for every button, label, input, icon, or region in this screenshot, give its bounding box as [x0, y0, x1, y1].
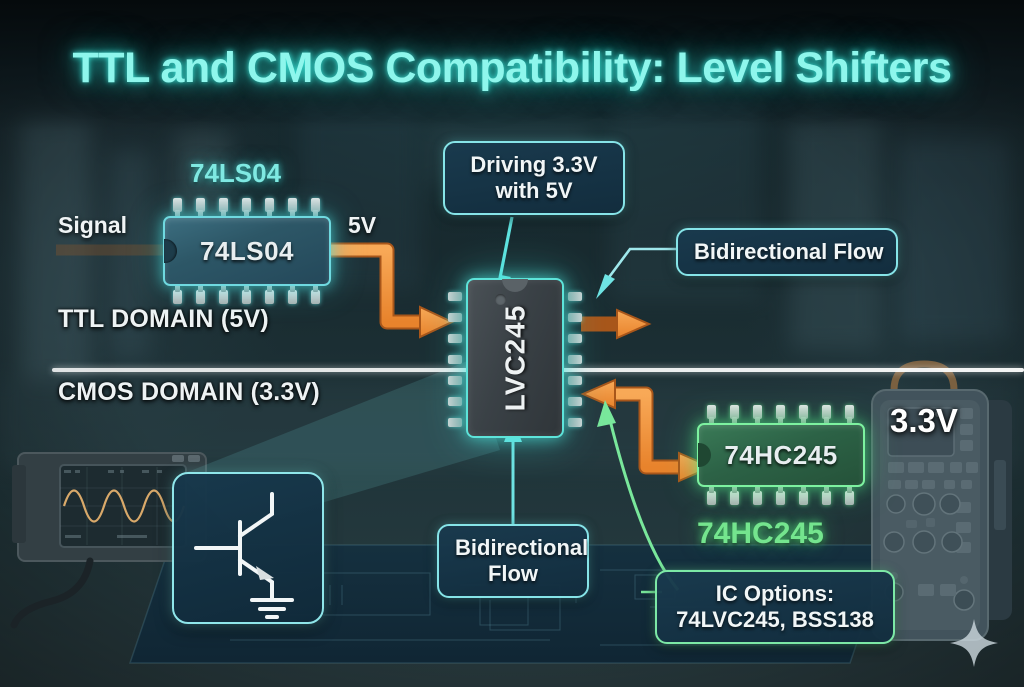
chip-lvc245[interactable]: LVC245: [448, 278, 582, 438]
ttl-voltage-label: 5V: [348, 212, 376, 239]
input-chip-caption: 74LS04: [190, 158, 281, 189]
chip-74hc245[interactable]: 74HC245: [697, 405, 865, 505]
npn-transistor-symbol: [174, 474, 322, 622]
transistor-symbol-panel[interactable]: [172, 472, 324, 624]
callout-bidir-bottom-line2: Flow: [455, 561, 571, 587]
callout-ic-options[interactable]: IC Options: 74LVC245, BSS138: [655, 570, 895, 644]
chip-74hc245-label: 74HC245: [724, 440, 837, 471]
callout-bidir-bottom-line1: Bidirectional: [455, 535, 571, 561]
cmos-voltage-label: 3.3V: [890, 402, 958, 440]
callout-driving-line1: Driving 3.3V: [461, 152, 607, 178]
chip-74ls04[interactable]: 74LS04: [163, 198, 331, 304]
callout-driving-line2: with 5V: [461, 178, 607, 204]
callout-bidir-top-line1: Bidirectional Flow: [694, 239, 880, 265]
callout-ic-options-line2: 74LVC245, BSS138: [673, 607, 877, 633]
callout-bidirectional-bottom[interactable]: Bidirectional Flow: [437, 524, 589, 598]
callout-bidirectional-top[interactable]: Bidirectional Flow: [676, 228, 898, 276]
callout-driving-3v3[interactable]: Driving 3.3V with 5V: [443, 141, 625, 215]
callout-ic-options-line1: IC Options:: [673, 581, 877, 607]
chip-74ls04-label: 74LS04: [200, 236, 294, 267]
page-title: TTL and CMOS Compatibility: Level Shifte…: [0, 44, 1024, 93]
signal-input-label: Signal: [58, 212, 127, 239]
infographic-canvas: TTL DOMAIN (5V) CMOS DOMAIN (3.3V): [0, 0, 1024, 687]
chip-lvc245-label: LVC245: [499, 305, 531, 412]
output-chip-caption: 74HC245: [697, 517, 824, 551]
